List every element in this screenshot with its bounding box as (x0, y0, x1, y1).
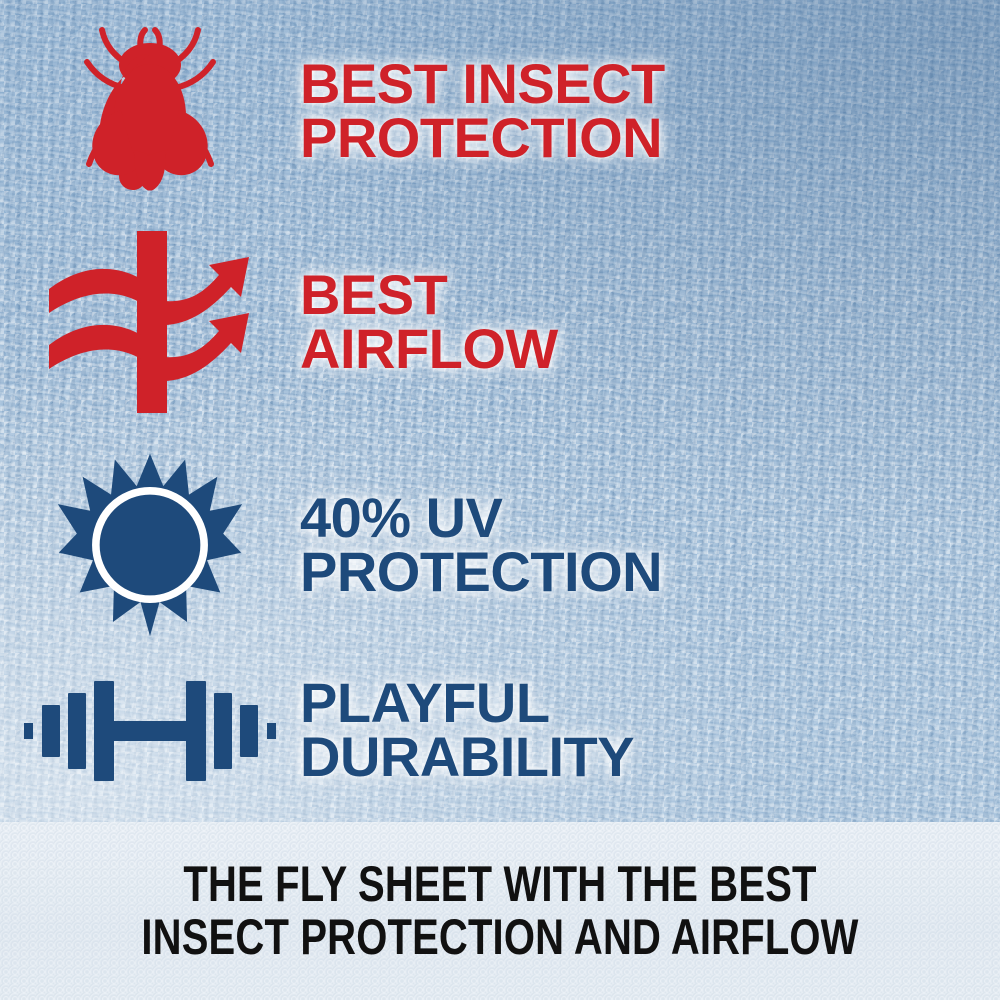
feature-label-uv-protection: 40% UV PROTECTION (300, 491, 1000, 599)
airflow-arrows-icon (43, 227, 258, 417)
text-cell-airflow: BEST AIRFLOW (300, 268, 1000, 376)
icon-cell-uv (0, 450, 300, 640)
feature-label-durability: PLAYFUL DURABILITY (300, 676, 1000, 784)
icon-cell-insect (0, 18, 300, 203)
feature-row-airflow: BEST AIRFLOW (0, 222, 1000, 422)
feature-row-uv-protection: 40% UV PROTECTION (0, 442, 1000, 647)
sun-icon (55, 450, 245, 640)
feature-label-insect-protection: BEST INSECT PROTECTION (300, 57, 1000, 165)
fly-icon (75, 18, 225, 203)
feature-label-airflow: BEST AIRFLOW (300, 268, 1000, 376)
text-cell-uv: 40% UV PROTECTION (300, 491, 1000, 599)
feature-row-insect-protection: BEST INSECT PROTECTION (0, 18, 1000, 203)
product-feature-poster: BEST INSECT PROTECTION (0, 0, 1000, 1000)
caption-headline: THE FLY SHEET WITH THE BEST INSECT PROTE… (100, 858, 900, 964)
icon-cell-airflow (0, 227, 300, 417)
caption-band: THE FLY SHEET WITH THE BEST INSECT PROTE… (0, 822, 1000, 1000)
text-cell-durability: PLAYFUL DURABILITY (300, 676, 1000, 784)
icon-cell-durability (0, 665, 300, 795)
dumbbell-icon (20, 665, 280, 795)
text-cell-insect: BEST INSECT PROTECTION (300, 57, 1000, 165)
feature-row-durability: PLAYFUL DURABILITY (0, 650, 1000, 810)
